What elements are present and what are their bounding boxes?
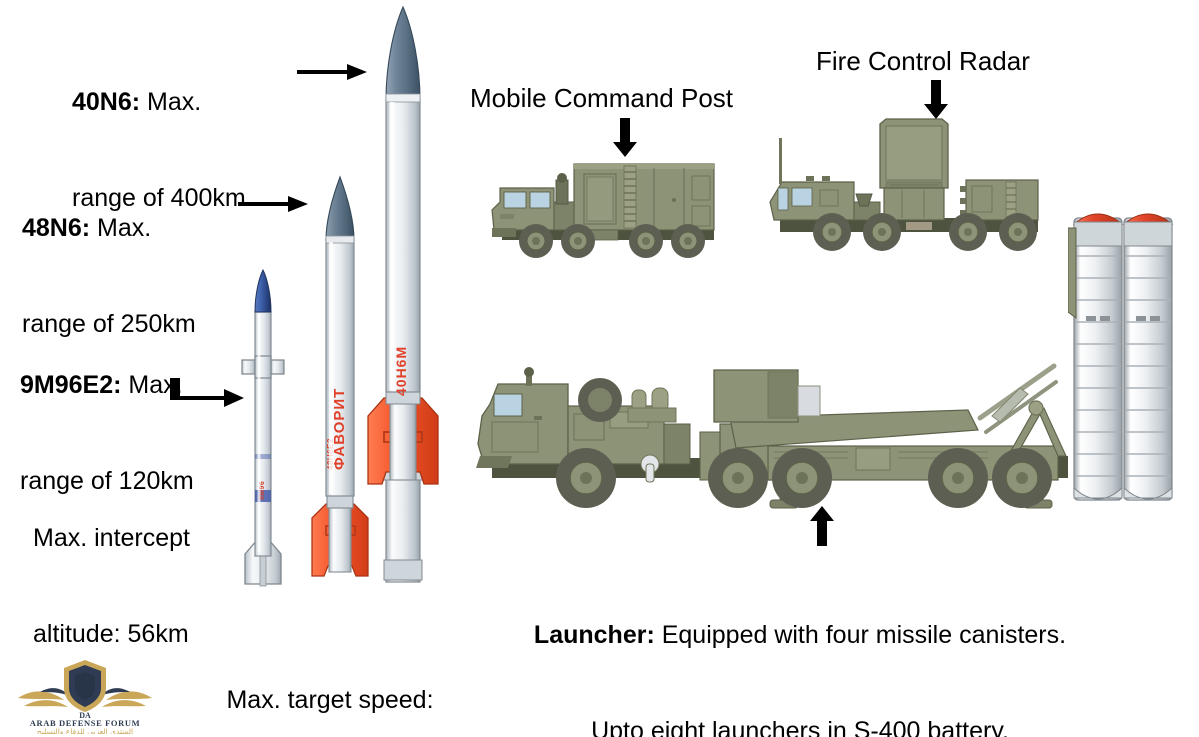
arrow-to-40n6 <box>297 60 369 84</box>
vehicle-command-post <box>478 158 728 263</box>
launcher-caption: Launcher: Equipped with four missile can… <box>480 555 1120 737</box>
missile-40n6: 40Н6М <box>360 4 446 590</box>
arrow-to-9m96e2 <box>168 378 246 414</box>
arrow-to-command-post <box>612 118 638 158</box>
missile-label-9m96e2-name: 9M96E2: <box>20 371 121 399</box>
vehicle-label-command-post: Mobile Command Post <box>470 82 733 115</box>
stat-intercept-altitude-line2: altitude: 56km <box>33 618 190 650</box>
missile-label-48n6-line1: Max. <box>90 214 151 242</box>
launcher-caption-line2: Upto eight launchers in S-400 battery. <box>480 715 1120 737</box>
vehicle-label-fire-control-radar: Fire Control Radar <box>816 45 1030 78</box>
missile-40n6-body-text: 40Н6М <box>393 346 409 396</box>
stat-intercept-altitude-line1: Max. intercept <box>33 522 190 554</box>
missile-label-40n6-name: 40N6: <box>72 88 140 116</box>
watermark-logo: DA ARAB DEFENSE FORUM المنتدى العربي للد… <box>10 652 160 732</box>
arrow-to-fire-control-radar <box>923 80 949 120</box>
stat-target-speed-line1: Max. target speed: <box>195 684 465 716</box>
missile-9m96e2: 9М96 <box>236 268 290 590</box>
launcher-canisters <box>1068 190 1198 520</box>
vehicle-launcher <box>468 360 1088 520</box>
launcher-caption-line1: Equipped with four missile canisters. <box>655 621 1066 649</box>
missile-label-40n6-line1: Max. <box>140 88 201 116</box>
vehicle-fire-control-radar <box>760 118 1050 258</box>
infographic-canvas: 40N6: Max. range of 400km 48N6: Max. ran… <box>0 0 1199 737</box>
missile-label-48n6-name: 48N6: <box>22 214 90 242</box>
stat-target-speed: Max. target speed: 4.8km/sec <box>195 620 465 737</box>
watermark-name-arabic: المنتدى العربي للدفاع والتسليح <box>37 727 133 734</box>
launcher-caption-bold: Launcher: <box>534 621 655 649</box>
